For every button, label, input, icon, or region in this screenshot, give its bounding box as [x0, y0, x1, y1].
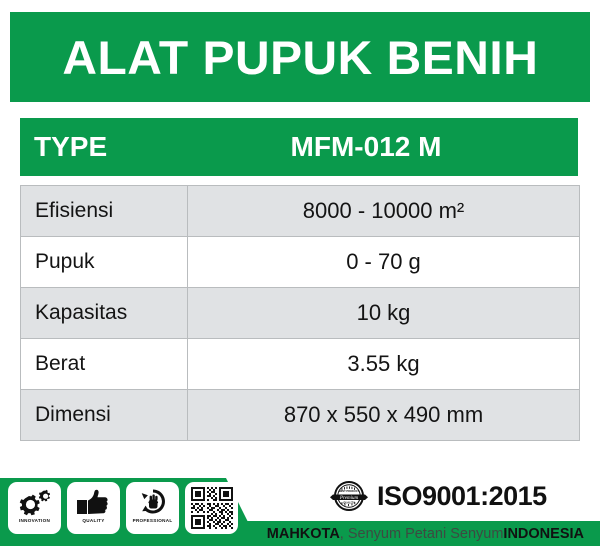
spec-key: Dimensi — [21, 390, 188, 441]
table-row: Efisiensi8000 - 10000 m² — [21, 186, 580, 237]
spec-table-wrapper: TYPE MFM-012 M Efisiensi8000 - 10000 m²P… — [20, 118, 580, 441]
footer: INNOVATION QUALITY — [0, 476, 600, 546]
spec-table: Efisiensi8000 - 10000 m²Pupuk0 - 70 gKap… — [20, 185, 580, 441]
type-value: MFM-012 M — [180, 131, 578, 163]
product-spec-card: ALAT PUPUK BENIH TYPE MFM-012 M Efisiens… — [0, 0, 600, 546]
spec-key: Efisiensi — [21, 186, 188, 237]
type-label: TYPE — [20, 131, 180, 163]
spec-value: 0 - 70 g — [188, 237, 580, 288]
spec-value: 870 x 550 x 490 mm — [188, 390, 580, 441]
spec-value: 10 kg — [188, 288, 580, 339]
iso-certification-text: ISO9001:2015 — [377, 481, 547, 512]
table-row: Dimensi870 x 550 x 490 mm — [21, 390, 580, 441]
seal-top-text: BEST PRODUCT — [339, 489, 360, 493]
thumbs-up-icon — [72, 486, 116, 518]
banner: ALAT PUPUK BENIH — [10, 12, 590, 102]
spec-key: Berat — [21, 339, 188, 390]
page-title: ALAT PUPUK BENIH — [62, 34, 538, 81]
spec-value: 3.55 kg — [188, 339, 580, 390]
table-row: Kapasitas10 kg — [21, 288, 580, 339]
premium-seal-icon: BEST PRODUCT Premium QUALITY — [328, 480, 370, 512]
type-header-row: TYPE MFM-012 M — [20, 118, 578, 176]
tagline-country: INDONESIA — [503, 526, 584, 542]
fist-arrows-icon — [131, 486, 175, 518]
spec-key: Pupuk — [21, 237, 188, 288]
iso-block: BEST PRODUCT Premium QUALITY ISO9001:201… — [328, 480, 547, 512]
spec-value: 8000 - 10000 m² — [188, 186, 580, 237]
seal-bottom-text: QUALITY — [343, 500, 355, 504]
table-row: Berat3.55 kg — [21, 339, 580, 390]
seal-main-text: Premium — [339, 496, 359, 501]
tagline: MAHKOTA, Senyum Petani Senyum INDONESIA — [0, 521, 600, 546]
tagline-brand: MAHKOTA — [267, 526, 340, 542]
tagline-middle: , Senyum Petani Senyum — [340, 526, 504, 542]
spec-key: Kapasitas — [21, 288, 188, 339]
gears-icon — [13, 486, 57, 518]
table-row: Pupuk0 - 70 g — [21, 237, 580, 288]
